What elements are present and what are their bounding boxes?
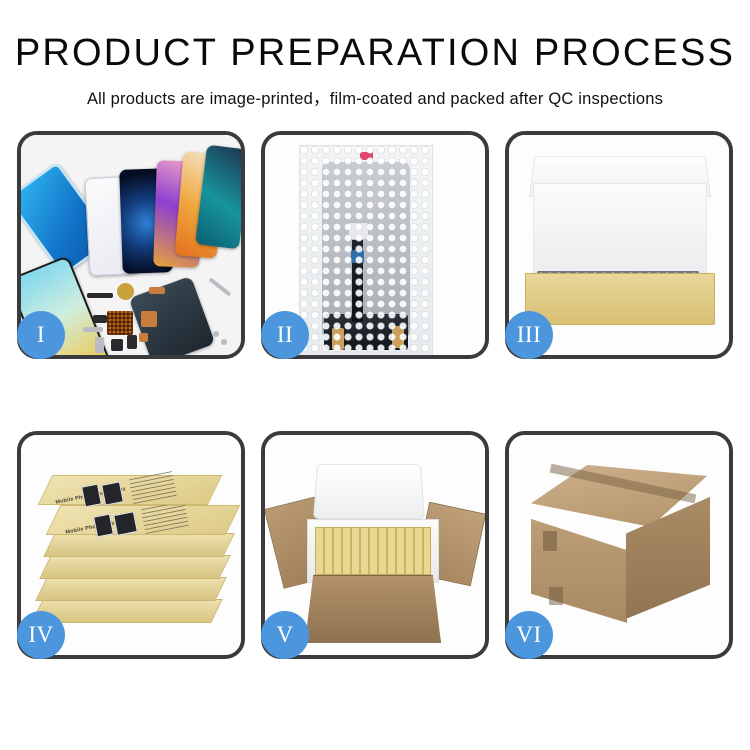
process-step-panel-2: II — [261, 131, 489, 359]
bubble-texture — [300, 146, 432, 355]
step-badge-4: IV — [17, 611, 65, 659]
process-step-panel-6: VI — [505, 431, 733, 659]
step-badge-2: II — [261, 311, 309, 359]
step-badge-3: III — [505, 311, 553, 359]
process-step-panel-1: I — [17, 131, 245, 359]
bubble-wrap-bag — [299, 145, 433, 355]
process-step-panel-4: Mobile Phone Spare Parts Mobile Phone Sp… — [17, 431, 245, 659]
box-back-panel — [533, 183, 707, 281]
kraft-tray — [525, 273, 715, 325]
step-badge-6: VI — [505, 611, 553, 659]
page-title: PRODUCT PREPARATION PROCESS — [0, 34, 750, 74]
packed-retail-boxes — [315, 527, 431, 575]
page-subtitle: All products are image-printed，film-coat… — [0, 85, 750, 109]
step-badge-1: I — [17, 311, 65, 359]
process-step-grid: I II — [17, 131, 733, 659]
process-step-panel-3: III — [505, 131, 733, 359]
carton-tab-upper — [543, 531, 557, 551]
carton-tab-lower — [549, 587, 563, 605]
carton-front-panel — [305, 575, 441, 643]
foam-lid — [313, 464, 425, 519]
step-badge-5: V — [261, 611, 309, 659]
process-step-panel-5: V — [261, 431, 489, 659]
page-header: PRODUCT PREPARATION PROCESS All products… — [0, 0, 750, 109]
